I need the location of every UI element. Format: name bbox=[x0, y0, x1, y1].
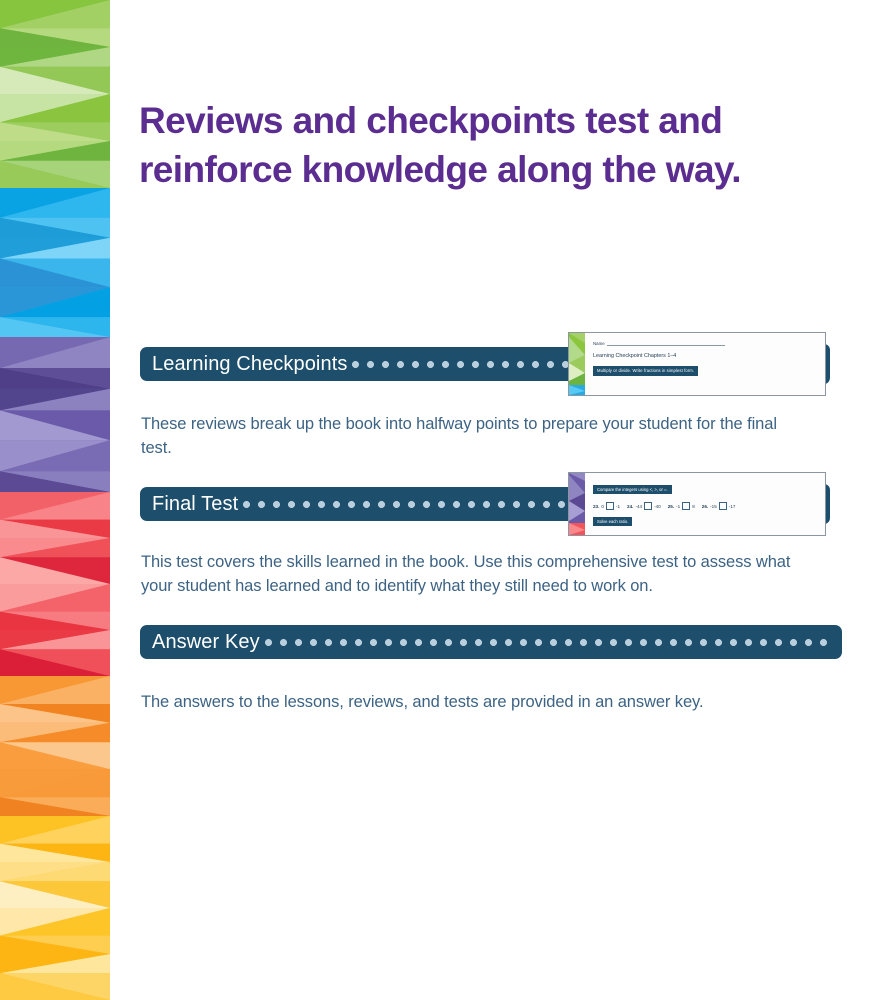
worksheet-instruction-banner: Compare the integers using <, >, or =. bbox=[593, 485, 672, 495]
problem-left-operand: -15 bbox=[710, 504, 717, 509]
dotted-leader bbox=[265, 639, 832, 646]
worksheet-name-field: Name bbox=[593, 341, 818, 346]
edge-band-red bbox=[0, 492, 110, 676]
worksheet-problem: 26. -15 -17 bbox=[702, 502, 736, 510]
worksheet-problem: 25. -1 8 bbox=[668, 502, 695, 510]
thumbnail-color-strip bbox=[569, 473, 585, 535]
edge-band-purple bbox=[0, 337, 110, 492]
problem-number: 23. bbox=[593, 504, 599, 509]
answer-box[interactable] bbox=[606, 502, 614, 510]
section-bar-answer-key: Answer Key bbox=[140, 625, 842, 659]
thumbnail-page-content: Name Learning Checkpoint Chapters 1–4 Mu… bbox=[585, 333, 825, 395]
edge-band-blue bbox=[0, 188, 110, 337]
section-paragraph-answer-key: The answers to the lessons, reviews, and… bbox=[141, 691, 806, 715]
worksheet-name-rule bbox=[607, 341, 725, 346]
problem-number: 24. bbox=[627, 504, 633, 509]
worksheet-thumbnail-learning-checkpoint[interactable]: Name Learning Checkpoint Chapters 1–4 Mu… bbox=[568, 332, 826, 396]
problem-right-operand: -40 bbox=[654, 504, 661, 509]
edge-band-orange bbox=[0, 676, 110, 816]
problem-number: 25. bbox=[668, 504, 674, 509]
page-title: Reviews and checkpoints test and reinfor… bbox=[139, 96, 819, 194]
section-paragraph-final-test: This test covers the skills learned in t… bbox=[141, 551, 806, 598]
problem-left-operand: 0 bbox=[601, 504, 604, 509]
problem-right-operand: 8 bbox=[692, 504, 695, 509]
problem-left-operand: -44 bbox=[635, 504, 642, 509]
decorative-edge-strip bbox=[0, 0, 110, 1000]
answer-box[interactable] bbox=[719, 502, 727, 510]
worksheet-thumbnail-final-test[interactable]: Compare the integers using <, >, or =. 2… bbox=[568, 472, 826, 536]
problem-right-operand: -17 bbox=[729, 504, 736, 509]
worksheet-problem-row: 23. 0 -1 24. -44 -40 25. -1 8 26. -15 bbox=[593, 502, 818, 510]
answer-box[interactable] bbox=[682, 502, 690, 510]
worksheet-instruction-banner: Multiply or divide. Write fractions in s… bbox=[593, 366, 698, 376]
worksheet-problem: 23. 0 -1 bbox=[593, 502, 620, 510]
section-bar-label-answer-key: Answer Key bbox=[140, 631, 265, 654]
thumbnail-page-content: Compare the integers using <, >, or =. 2… bbox=[585, 473, 825, 535]
section-bar-label-learning-checkpoints: Learning Checkpoints bbox=[140, 353, 352, 376]
worksheet-title: Learning Checkpoint Chapters 1–4 bbox=[593, 353, 818, 359]
thumbnail-color-strip bbox=[569, 333, 585, 395]
section-paragraph-learning-checkpoints: These reviews break up the book into hal… bbox=[141, 413, 781, 460]
edge-band-green bbox=[0, 0, 110, 188]
worksheet-instruction-banner-secondary: Solve each ratio. bbox=[593, 517, 632, 527]
answer-box[interactable] bbox=[644, 502, 652, 510]
section-bar-label-final-test: Final Test bbox=[140, 493, 243, 516]
problem-number: 26. bbox=[702, 504, 708, 509]
problem-right-operand: -1 bbox=[616, 504, 620, 509]
page-title-line-2: reinforce knowledge along the way. bbox=[139, 145, 819, 194]
page-title-line-1: Reviews and checkpoints test and bbox=[139, 96, 819, 145]
edge-band-yellow bbox=[0, 816, 110, 1000]
problem-left-operand: -1 bbox=[676, 504, 680, 509]
worksheet-name-label: Name bbox=[593, 341, 605, 346]
worksheet-problem: 24. -44 -40 bbox=[627, 502, 661, 510]
